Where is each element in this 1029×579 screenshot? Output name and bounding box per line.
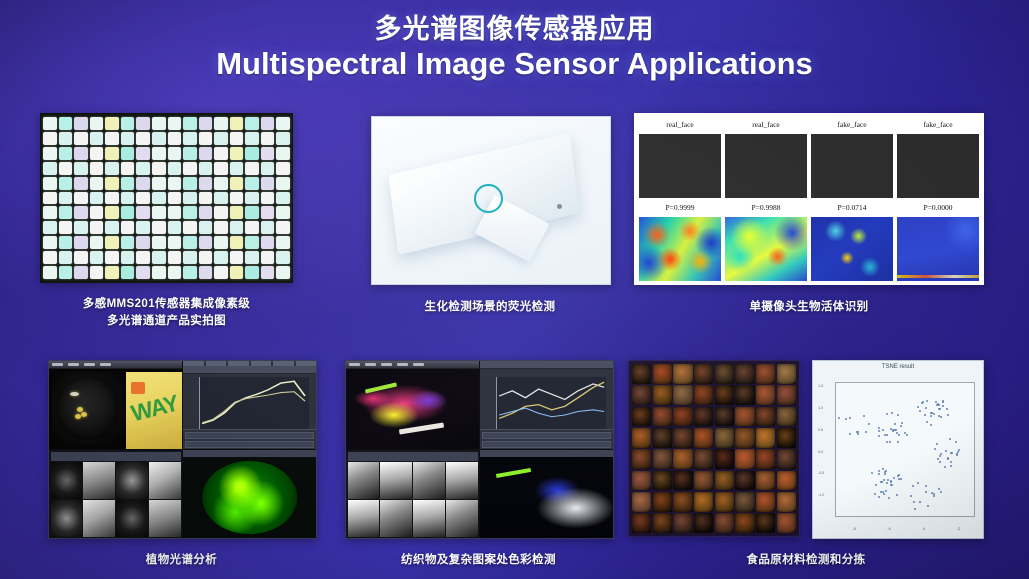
mosaic-pixel — [245, 177, 259, 190]
mosaic-pixel — [105, 162, 119, 175]
food-sample-cell — [653, 364, 672, 384]
food-sample-cell — [756, 513, 775, 533]
scatter-point — [890, 480, 892, 482]
food-sample-cell — [756, 449, 775, 469]
mosaic-pixel — [199, 251, 213, 264]
mosaic-pixel — [183, 162, 197, 175]
panel-face-antispoof: real_facereal_facefake_facefake_faceP=0.… — [634, 113, 984, 285]
food-sample-cell — [756, 385, 775, 405]
scatter-x-tick: -4 — [922, 527, 925, 531]
mosaic-pixel — [136, 162, 150, 175]
mosaic-pixel — [121, 147, 135, 160]
channel-thumb[interactable] — [348, 462, 379, 499]
food-sample-cell — [653, 385, 672, 405]
food-sample-cell — [735, 428, 754, 448]
scatter-point — [887, 479, 889, 481]
scatter-point — [917, 482, 919, 484]
mosaic-pixel — [261, 162, 275, 175]
face-thumbnail — [897, 134, 979, 198]
title-block: 多光谱图像传感器应用 Multispectral Image Sensor Ap… — [0, 14, 1029, 81]
mosaic-pixel — [59, 192, 73, 205]
panel-fluorescence: 生化检测场景的荧光检测 — [371, 116, 609, 283]
food-sample-cell — [653, 471, 672, 491]
scatter-point — [882, 429, 884, 431]
mosaic-pixel — [183, 177, 197, 190]
channel-thumb[interactable] — [51, 500, 82, 537]
scatter-point — [845, 418, 847, 420]
scatter-point — [865, 431, 867, 433]
mosaic-pixel — [276, 206, 290, 219]
scatter-point — [925, 491, 927, 493]
tsne-scatter-plot: TSNE result -8-6-4-21.51.00.50.0-0.5-1.0 — [812, 360, 984, 539]
food-sample-cell — [715, 449, 734, 469]
scatter-point — [874, 493, 876, 495]
face-thumbnail — [811, 134, 893, 198]
mosaic-pixel — [121, 221, 135, 234]
mosaic-pixel — [199, 177, 213, 190]
scatter-x-tick: -8 — [853, 527, 856, 531]
scatter-point — [950, 461, 952, 463]
mosaic-pixel — [261, 177, 275, 190]
mosaic-pixel — [152, 162, 166, 175]
mosaic-pixel — [90, 147, 104, 160]
face-class-label: fake_face — [897, 117, 979, 132]
food-sample-cell — [653, 513, 672, 533]
mosaic-pixel — [59, 147, 73, 160]
channel-thumb[interactable] — [51, 462, 82, 499]
mosaic-pixel — [168, 236, 182, 249]
food-sample-cell — [653, 428, 672, 448]
food-sample-cell — [653, 449, 672, 469]
scatter-point — [881, 481, 883, 483]
mosaic-pixel — [90, 162, 104, 175]
mosaic-pixel — [230, 147, 244, 160]
mosaic-pixel — [90, 177, 104, 190]
mosaic-pixel — [74, 162, 88, 175]
mosaic-pixel — [90, 192, 104, 205]
scatter-point — [925, 485, 927, 487]
channel-thumb[interactable] — [116, 500, 147, 537]
food-sample-cell — [632, 428, 651, 448]
channel-thumb[interactable] — [380, 462, 411, 499]
scatter-point — [926, 421, 928, 423]
mosaic-pixel — [105, 236, 119, 249]
mosaic-pixel — [214, 162, 228, 175]
classification-result-view — [183, 450, 316, 538]
scatter-point — [871, 472, 873, 474]
scatter-point — [863, 415, 865, 417]
panel-sensor-mosaic: 多感MMS201传感器集成像素级 多光谱通道产品实拍图 — [40, 113, 293, 283]
scatter-y-tick: 0.5 — [818, 428, 823, 432]
mosaic-pixel — [276, 236, 290, 249]
mosaic-pixel — [168, 162, 182, 175]
mosaic-pixel — [90, 132, 104, 145]
food-sample-cell — [632, 385, 651, 405]
food-sample-cell — [735, 364, 754, 384]
mosaic-pixel — [199, 206, 213, 219]
mosaic-pixel — [261, 206, 275, 219]
mosaic-pixel — [136, 206, 150, 219]
mosaic-pixel — [43, 266, 57, 279]
mosaic-pixel — [152, 177, 166, 190]
face-class-label: real_face — [725, 117, 807, 132]
mosaic-pixel — [183, 206, 197, 219]
food-sample-cell — [694, 385, 713, 405]
mosaic-pixel — [245, 162, 259, 175]
spectrum-plot — [199, 377, 309, 430]
scatter-x-tick: -6 — [887, 527, 890, 531]
mosaic-pixel — [183, 117, 197, 130]
spectrograph-pane — [480, 361, 613, 449]
mosaic-pixel — [105, 192, 119, 205]
mosaic-pixel — [261, 221, 275, 234]
mosaic-pixel — [43, 177, 57, 190]
viewer-toolbar[interactable] — [49, 361, 182, 369]
scatter-point — [940, 416, 942, 418]
scatter-point — [878, 435, 880, 437]
mosaic-pixel — [199, 192, 213, 205]
scatter-point — [838, 417, 840, 419]
spectrum-plot — [496, 377, 606, 430]
mosaic-pixel — [43, 192, 57, 205]
scatter-point — [882, 468, 884, 470]
food-sample-cell — [777, 407, 796, 427]
caption-plant-spectrum: 植物光谱分析 — [8, 552, 355, 569]
face-heatmap — [725, 217, 807, 281]
scatter-point — [890, 484, 892, 486]
face-heatmap — [639, 217, 721, 281]
mosaic-pixel — [121, 192, 135, 205]
scatter-point — [913, 501, 915, 503]
panel-plant-spectrum: WAY — [48, 360, 315, 537]
mosaic-pixel — [230, 236, 244, 249]
channel-thumb[interactable] — [149, 462, 180, 499]
mosaic-pixel — [245, 132, 259, 145]
scatter-point — [894, 423, 896, 425]
scatter-point — [886, 482, 888, 484]
mosaic-pixel — [276, 251, 290, 264]
scatter-point — [878, 496, 880, 498]
mosaic-pixel — [168, 266, 182, 279]
mosaic-pixel — [136, 236, 150, 249]
mosaic-pixel — [59, 117, 73, 130]
page-title-en: Multispectral Image Sensor Applications — [0, 47, 1029, 81]
mosaic-pixel — [152, 266, 166, 279]
scatter-point — [939, 455, 941, 457]
channel-thumb[interactable] — [83, 500, 114, 537]
channel-thumb[interactable] — [446, 500, 477, 537]
scatter-point — [880, 491, 882, 493]
scatter-point — [933, 413, 935, 415]
channel-thumbnails — [49, 450, 182, 538]
mosaic-pixel — [59, 206, 73, 219]
scatter-point — [955, 441, 957, 443]
food-sample-cell — [653, 492, 672, 512]
mosaic-pixel — [74, 192, 88, 205]
sensor-mosaic-image — [40, 113, 293, 283]
scatter-point — [886, 434, 888, 436]
face-probability-label: P=0.9999 — [639, 200, 721, 215]
scatter-point — [889, 441, 891, 443]
mosaic-pixel — [136, 147, 150, 160]
live-camera-view — [346, 361, 479, 449]
scatter-point — [924, 414, 926, 416]
mosaic-pixel — [90, 221, 104, 234]
food-sample-cell — [715, 407, 734, 427]
scatter-point — [901, 422, 903, 424]
scatter-point — [951, 452, 953, 454]
scatter-point — [936, 404, 938, 406]
mosaic-pixel — [152, 117, 166, 130]
mosaic-pixel — [183, 266, 197, 279]
scatter-point — [935, 401, 937, 403]
scatter-point — [926, 400, 928, 402]
scatter-point — [886, 413, 888, 415]
scatter-y-tick: -0.5 — [818, 471, 824, 475]
channel-thumb[interactable] — [380, 500, 411, 537]
mosaic-pixel — [168, 147, 182, 160]
scatter-title: TSNE result — [813, 364, 983, 370]
food-sample-cell — [632, 407, 651, 427]
mosaic-pixel — [261, 192, 275, 205]
face-probability-label: P=0.0000 — [897, 200, 979, 215]
face-probability-label: P=0.0714 — [811, 200, 893, 215]
mosaic-pixel — [74, 132, 88, 145]
mosaic-pixel — [183, 236, 197, 249]
channel-thumb[interactable] — [413, 462, 444, 499]
mosaic-pixel — [105, 221, 119, 234]
mosaic-pixel — [121, 236, 135, 249]
mosaic-pixel — [214, 132, 228, 145]
scatter-point — [939, 408, 941, 410]
food-sample-cell — [777, 471, 796, 491]
scatter-point — [933, 495, 935, 497]
mosaic-pixel — [245, 117, 259, 130]
food-sample-cell — [673, 407, 692, 427]
mosaic-pixel — [74, 221, 88, 234]
textile-false-color-image — [346, 368, 479, 449]
bag-logo-text: WAY — [128, 389, 180, 427]
scatter-point — [888, 497, 890, 499]
scatter-point — [931, 492, 933, 494]
food-sample-cell — [694, 449, 713, 469]
mosaic-pixel — [183, 147, 197, 160]
mosaic-pixel — [43, 236, 57, 249]
mosaic-pixel — [261, 147, 275, 160]
food-sample-cell — [673, 471, 692, 491]
mosaic-pixel — [90, 251, 104, 264]
scatter-point — [878, 470, 880, 472]
food-sample-cell — [756, 471, 775, 491]
mosaic-pixel — [136, 221, 150, 234]
channel-thumb[interactable] — [83, 462, 114, 499]
mosaic-pixel — [43, 117, 57, 130]
scatter-point — [947, 414, 949, 416]
mosaic-pixel — [121, 266, 135, 279]
mosaic-pixel — [105, 147, 119, 160]
mosaic-pixel — [276, 147, 290, 160]
mosaic-pixel — [214, 221, 228, 234]
caption-food-sorting: 食品原材料检测和分拣 — [588, 552, 1024, 569]
scatter-point — [944, 466, 946, 468]
mosaic-pixel — [230, 117, 244, 130]
scatter-point — [878, 430, 880, 432]
food-sample-cell — [632, 364, 651, 384]
mosaic-pixel — [276, 221, 290, 234]
mosaic-pixel — [59, 162, 73, 175]
mosaic-pixel — [230, 132, 244, 145]
thumbnails-header — [348, 452, 478, 461]
channel-thumb[interactable] — [413, 500, 444, 537]
food-sample-cell — [777, 492, 796, 512]
mosaic-pixel — [136, 251, 150, 264]
food-sample-cell — [632, 449, 651, 469]
food-panel-row: TSNE result -8-6-4-21.51.00.50.0-0.5-1.0 — [628, 360, 984, 537]
mosaic-pixel — [152, 132, 166, 145]
scatter-point — [883, 493, 885, 495]
classification-blob — [202, 461, 298, 535]
channel-thumbnails — [346, 450, 479, 538]
mosaic-pixel — [105, 266, 119, 279]
mosaic-pixel — [105, 132, 119, 145]
food-sample-cell — [735, 513, 754, 533]
mosaic-pixel — [105, 251, 119, 264]
spectrum-curves — [200, 377, 309, 429]
food-sample-cell — [694, 471, 713, 491]
mosaic-pixel — [183, 251, 197, 264]
food-sample-cell — [632, 471, 651, 491]
mosaic-pixel — [245, 192, 259, 205]
classification-header — [480, 450, 613, 457]
scatter-point — [898, 434, 900, 436]
scatter-y-tick: -1.0 — [818, 493, 824, 497]
mosaic-pixel — [168, 221, 182, 234]
scatter-y-tick: 0.0 — [818, 450, 823, 454]
food-sample-cell — [735, 492, 754, 512]
fluorescence-image — [371, 116, 611, 285]
petri-dish — [52, 372, 126, 446]
mosaic-pixel — [245, 221, 259, 234]
channel-thumb[interactable] — [149, 500, 180, 537]
scatter-point — [930, 424, 932, 426]
viewer-toolbar[interactable] — [346, 361, 479, 369]
bag-logo-square — [131, 382, 145, 394]
mosaic-pixel — [199, 221, 213, 234]
mosaic-pixel — [43, 147, 57, 160]
mosaic-pixel — [230, 206, 244, 219]
mosaic-pixel — [90, 236, 104, 249]
scatter-point — [934, 448, 936, 450]
pane-header — [480, 361, 613, 369]
mosaic-pixel — [183, 132, 197, 145]
food-sample-cell — [694, 364, 713, 384]
scatter-point — [875, 484, 877, 486]
mosaic-pixel — [136, 192, 150, 205]
mosaic-pixel — [121, 162, 135, 175]
scatter-point — [900, 425, 902, 427]
mosaic-pixel — [59, 221, 73, 234]
mosaic-pixel — [261, 132, 275, 145]
mosaic-pixel — [261, 266, 275, 279]
mosaic-pixel — [74, 147, 88, 160]
mosaic-pixel — [43, 206, 57, 219]
mosaic-pixel — [43, 132, 57, 145]
face-heatmap — [811, 217, 893, 281]
scatter-point — [939, 461, 941, 463]
food-sample-cell — [777, 428, 796, 448]
food-sample-cell — [694, 513, 713, 533]
classification-header — [183, 450, 316, 457]
mosaic-pixel — [199, 147, 213, 160]
scatter-point — [897, 414, 899, 416]
mosaic-pixel — [121, 132, 135, 145]
mosaic-pixel — [245, 147, 259, 160]
mosaic-pixel — [74, 117, 88, 130]
mosaic-pixel — [230, 162, 244, 175]
scatter-point — [958, 449, 960, 451]
mosaic-pixel — [276, 192, 290, 205]
food-sample-cell — [756, 428, 775, 448]
food-sample-cell — [715, 364, 734, 384]
mosaic-pixel — [276, 117, 290, 130]
spectrum-curves — [497, 377, 606, 429]
scatter-point — [885, 490, 887, 492]
mosaic-pixel — [230, 251, 244, 264]
scatter-point — [950, 465, 952, 467]
mosaic-pixel — [152, 251, 166, 264]
food-sample-cell — [653, 407, 672, 427]
mosaic-pixel — [121, 117, 135, 130]
mosaic-pixel — [74, 236, 88, 249]
scatter-point — [927, 505, 929, 507]
scatter-point — [906, 434, 908, 436]
channel-thumb[interactable] — [116, 462, 147, 499]
mosaic-pixel — [168, 206, 182, 219]
food-sample-cell — [694, 407, 713, 427]
calibration-strip-green — [496, 468, 531, 478]
dish-ring — [56, 375, 119, 440]
mosaic-pixel — [199, 236, 213, 249]
channel-thumb[interactable] — [348, 500, 379, 537]
food-sample-cell — [673, 449, 692, 469]
food-sample-cell — [756, 492, 775, 512]
mosaic-pixel — [199, 117, 213, 130]
mosaic-pixel — [136, 132, 150, 145]
food-sample-cell — [715, 428, 734, 448]
mosaic-pixel — [90, 266, 104, 279]
mosaic-pixel — [214, 117, 228, 130]
face-thumbnail — [639, 134, 721, 198]
channel-thumb[interactable] — [446, 462, 477, 499]
mosaic-pixel — [136, 117, 150, 130]
mosaic-pixel — [168, 192, 182, 205]
mosaic-pixel — [261, 251, 275, 264]
scatter-point — [891, 412, 893, 414]
mosaic-pixel — [214, 266, 228, 279]
specimen-seed — [70, 392, 79, 396]
mosaic-pixel — [121, 206, 135, 219]
mosaic-pixel — [105, 117, 119, 130]
mosaic-pixel — [152, 221, 166, 234]
mosaic-pixel — [43, 221, 57, 234]
scatter-point — [857, 433, 859, 435]
panel-food-sorting: TSNE result -8-6-4-21.51.00.50.0-0.5-1.0… — [628, 360, 984, 537]
mosaic-pixel — [152, 147, 166, 160]
mosaic-pixel — [276, 177, 290, 190]
mosaic-pixel — [74, 251, 88, 264]
face-thumbnail — [725, 134, 807, 198]
scatter-point — [910, 495, 912, 497]
